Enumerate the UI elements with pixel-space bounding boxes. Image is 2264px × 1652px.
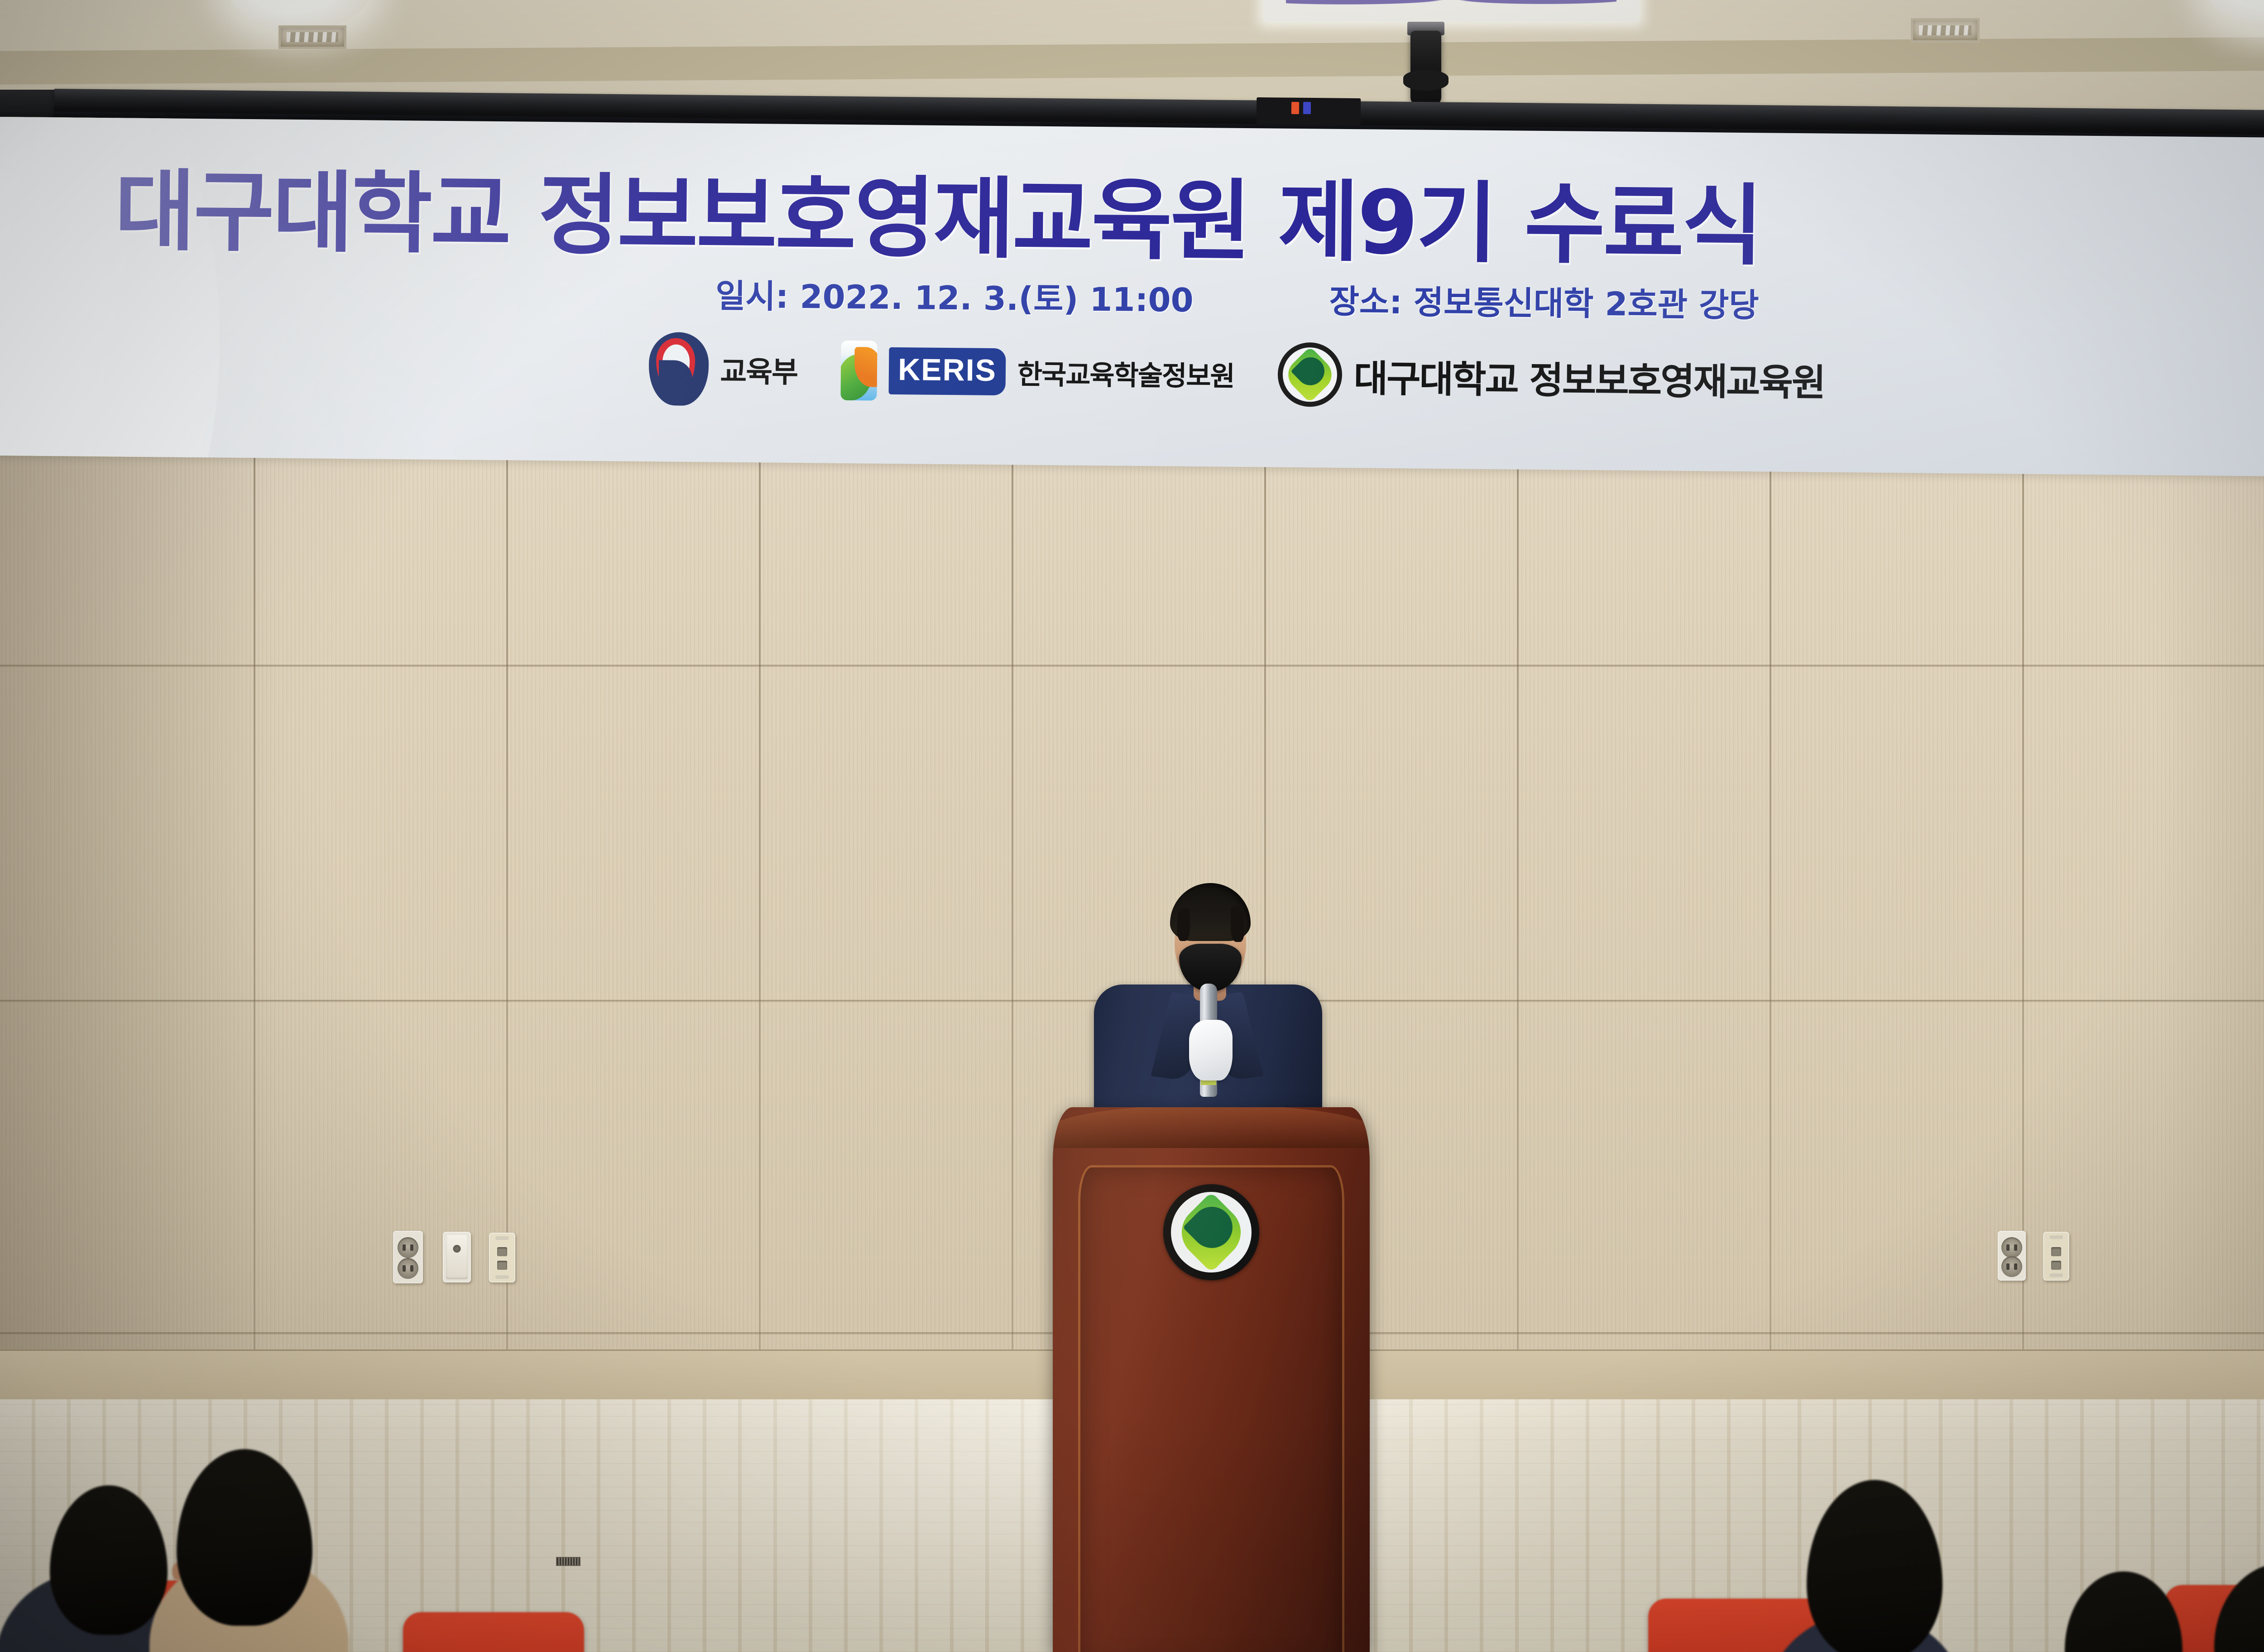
banner-title: 대구대학교 정보보호영재교육원 제9기 수료식 (114, 139, 2264, 288)
power-socket-icon[interactable] (1998, 1231, 2026, 1281)
audience-chair (403, 1612, 584, 1652)
data-jack-icon[interactable] (489, 1233, 515, 1282)
daegu-university-seal-icon (1277, 342, 1342, 407)
logo-keris: KERIS 한국교육학술정보원 (841, 341, 1235, 404)
podium-sheen (1053, 1107, 1370, 1652)
logo-moe: 교육부 (648, 332, 798, 407)
wall-seam (0, 665, 2264, 667)
speaker-person (1077, 866, 1339, 1147)
white-glove-icon (1189, 1020, 1233, 1081)
wall-shading-left (0, 453, 281, 1404)
banner-date: 일시: 2022. 12. 3.(토) 11:00 (715, 269, 1194, 321)
keris-leaf-icon (841, 341, 878, 401)
power-socket-icon[interactable] (393, 1231, 423, 1283)
wall-seam (1012, 453, 1013, 1404)
ceiling-projector-icon (1410, 31, 1441, 106)
status-led-red-icon (1291, 102, 1299, 114)
banner-place: 장소: 정보통신대학 2호관 강당 (1329, 275, 1759, 327)
light-switch-icon[interactable] (443, 1232, 471, 1282)
ceiling-light-icon (2205, 0, 2264, 28)
wall-shading-right (2161, 453, 2264, 1404)
logo-dgu-label: 대구대학교 정보보호영재교육원 (1353, 348, 1825, 406)
moe-taegeuk-icon (648, 332, 709, 406)
wall-seam (1517, 453, 1519, 1404)
auditorium-scene: LOVE·LIGHT·FREEDOM 대구대학교 정보보호영재교육원 제9기 수… (0, 0, 2264, 1652)
logo-keris-label: 한국교육학술정보원 (1017, 352, 1235, 394)
logo-moe-label: 교육부 (720, 348, 797, 391)
floor-vent-icon (556, 1557, 580, 1566)
wall-seam (759, 453, 761, 1404)
keris-wordmark: KERIS (889, 347, 1006, 395)
logo-dgu: 대구대학교 정보보호영재교육원 (1277, 342, 1825, 412)
wall-seam (1770, 453, 1771, 1404)
speaker-hair (1170, 883, 1251, 941)
banner-logo-row: 교육부 KERIS 한국교육학술정보원 대구대학교 정보보호영재교육원 (0, 326, 2264, 422)
ceiling-vent-icon (278, 25, 346, 49)
podium: LOVE·LIGHT·FREEDOM (1053, 1107, 1370, 1652)
ceiling-light-panel-icon (1263, 0, 1639, 22)
ceiling-vent-icon (1911, 18, 1980, 43)
status-led-blue-icon (1303, 102, 1311, 114)
event-banner: 대구대학교 정보보호영재교육원 제9기 수료식 일시: 2022. 12. 3.… (0, 117, 2264, 478)
data-jack-icon[interactable] (2043, 1232, 2069, 1281)
